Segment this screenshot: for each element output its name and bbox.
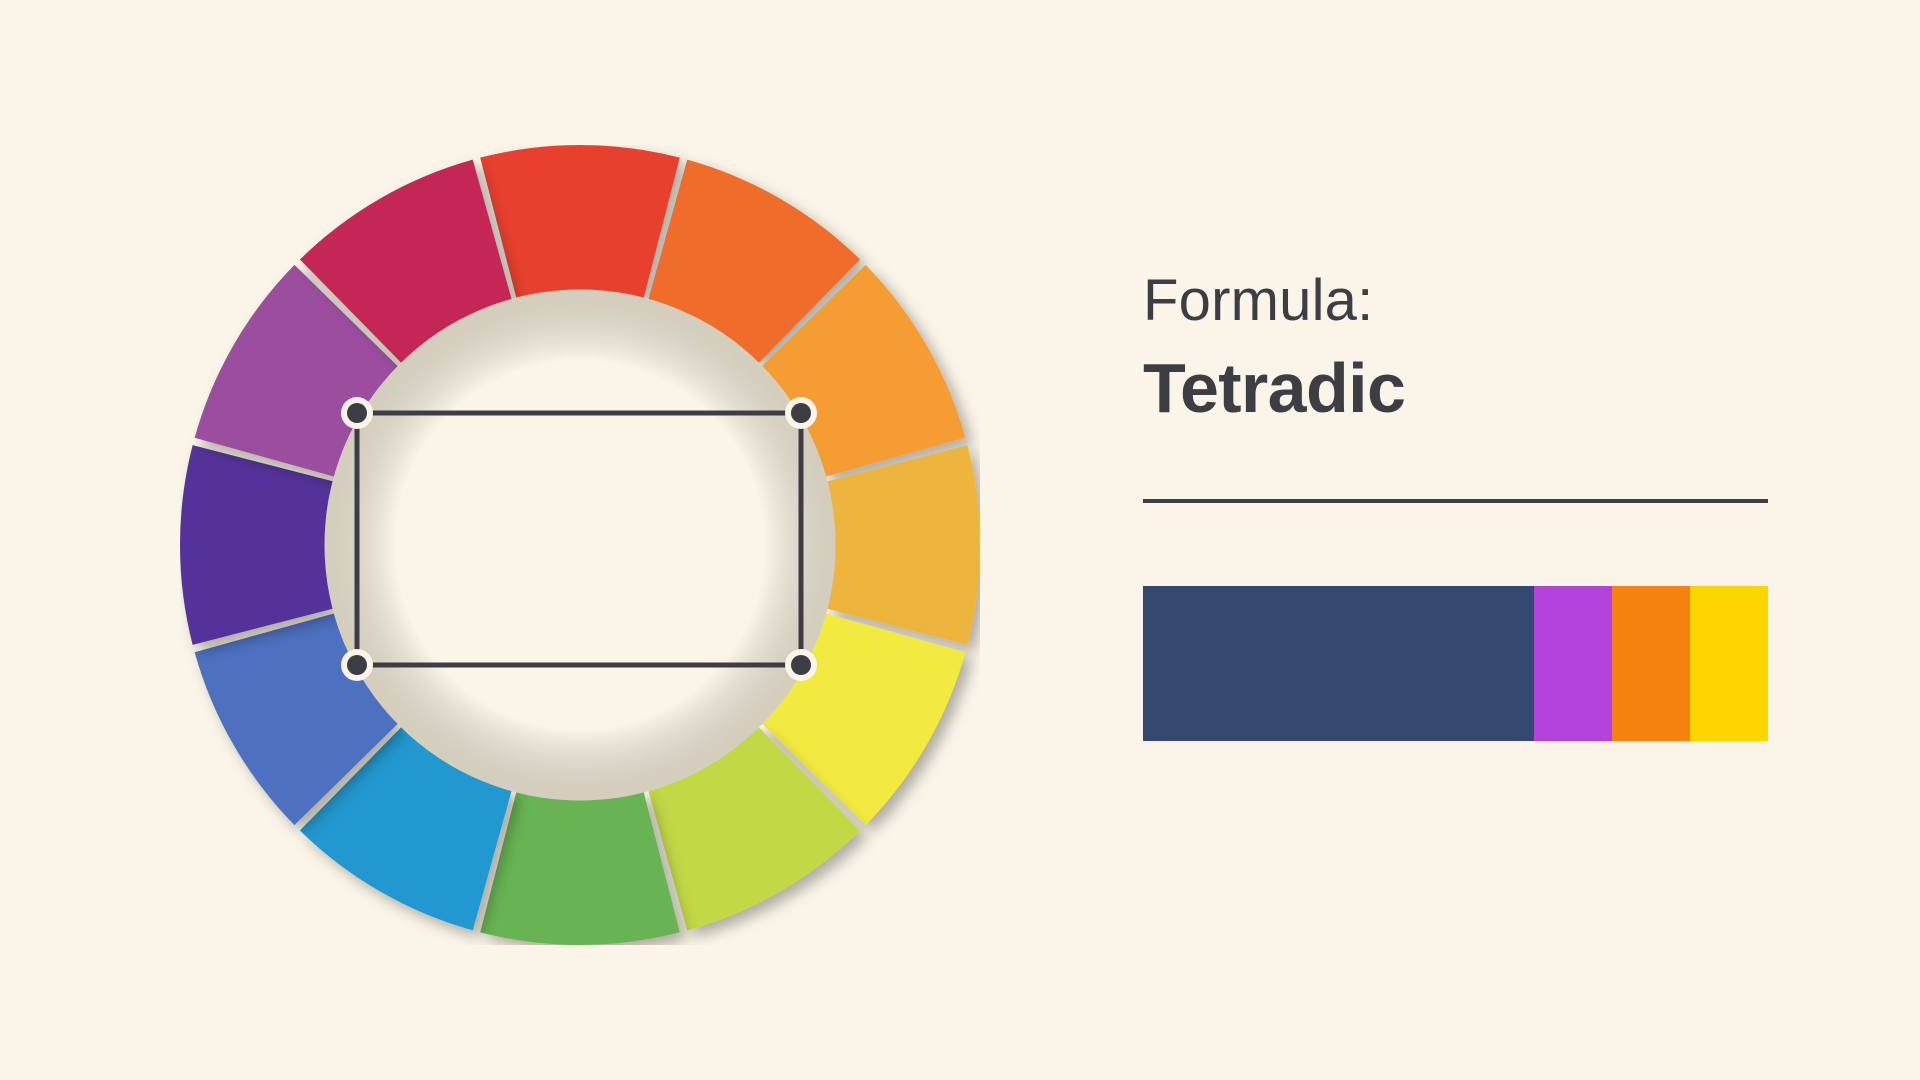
palette-swatch-tertiary[interactable] [1612, 586, 1690, 741]
color-wheel[interactable] [180, 145, 980, 945]
palette-swatch-primary[interactable] [1143, 586, 1534, 741]
node-marker-yellow-node[interactable] [791, 655, 811, 675]
panel-divider [1143, 499, 1768, 503]
canvas: Formula: Tetradic [0, 0, 1920, 1080]
node-marker-blue-node[interactable] [347, 655, 367, 675]
wheel-segment-green[interactable] [480, 792, 680, 945]
formula-label: Formula: [1143, 270, 1783, 333]
formula-value: Tetradic [1143, 349, 1783, 427]
wheel-segment-red[interactable] [480, 145, 680, 298]
formula-panel: Formula: Tetradic [1143, 270, 1783, 741]
palette-swatch-bar[interactable] [1143, 586, 1768, 741]
palette-swatch-quaternary[interactable] [1690, 586, 1768, 741]
wheel-segment-blue-violet[interactable] [180, 445, 333, 645]
palette-swatch-secondary[interactable] [1534, 586, 1612, 741]
color-wheel-svg [180, 145, 980, 945]
node-marker-violet-node[interactable] [791, 403, 811, 423]
wheel-inner-hole [325, 290, 836, 801]
wheel-segment-yellow-orange[interactable] [827, 445, 980, 645]
node-marker-yellow-orange-node[interactable] [347, 403, 367, 423]
wheel-hole-shading [325, 290, 836, 801]
